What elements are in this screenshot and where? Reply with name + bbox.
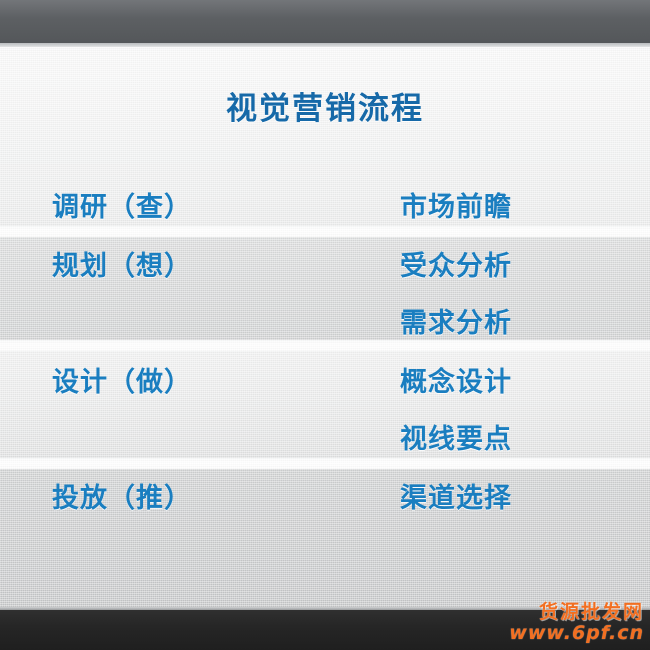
table-row: 设计（做） 概念设计 bbox=[0, 350, 650, 408]
table-row: 视线要点 bbox=[0, 407, 650, 465]
table-row: 调研（查） 市场前瞻 bbox=[0, 175, 650, 233]
item-label: 概念设计 bbox=[400, 360, 650, 399]
stage-label: 设计（做） bbox=[0, 360, 400, 399]
stage-label: 投放（推） bbox=[0, 476, 400, 515]
item-label: 市场前瞻 bbox=[400, 185, 650, 224]
watermark-url: www.6pf.cn bbox=[504, 624, 644, 644]
stage-label: 调研（查） bbox=[0, 185, 400, 224]
table-row: 投放（推） 渠道选择 bbox=[0, 466, 650, 524]
top-decoration-bar bbox=[0, 0, 650, 43]
watermark-site-name: 货源批发网 bbox=[504, 603, 644, 623]
item-label: 渠道选择 bbox=[400, 476, 650, 515]
top-bar-sheen bbox=[0, 0, 650, 18]
watermark: 货源批发网 www.6pf.cn bbox=[504, 603, 644, 644]
page-title: 视觉营销流程 bbox=[0, 83, 650, 128]
item-label: 受众分析 bbox=[400, 244, 650, 283]
table-row: 规划（想） 受众分析 bbox=[0, 234, 650, 292]
stage-label: 规划（想） bbox=[0, 244, 400, 283]
item-label: 需求分析 bbox=[400, 301, 650, 340]
item-label: 视线要点 bbox=[400, 417, 650, 456]
table-row: 需求分析 bbox=[0, 291, 650, 349]
slide-canvas: 视觉营销流程 调研（查） 市场前瞻 规划（想） 受众分析 需求分析 设计（做） … bbox=[0, 0, 650, 650]
